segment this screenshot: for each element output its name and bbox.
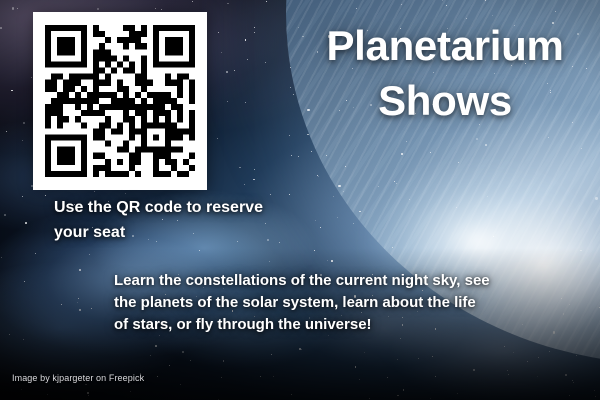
body-copy: Learn the constellations of the current … [114, 270, 506, 336]
qr-caption-line-1: Use the QR code to [54, 199, 202, 216]
poster-canvas: Planetarium Shows Use the QR code to res… [0, 0, 600, 400]
body-line-3: of stars, or fly through the universe! [114, 314, 506, 336]
qr-caption: Use the QR code to reserve your seat [54, 196, 264, 246]
qr-code-icon[interactable] [45, 25, 195, 177]
page-title: Planetarium Shows [300, 18, 590, 129]
planet-atmosphere-glow [330, 150, 600, 380]
title-line-2: Shows [300, 73, 590, 128]
title-line-1: Planetarium [326, 22, 563, 69]
image-credit: Image by kjpargeter on Freepick [12, 373, 144, 383]
body-line-2: the planets of the solar system, learn a… [114, 292, 506, 314]
body-line-1: Learn the constellations of the current … [114, 270, 506, 292]
qr-code-panel[interactable] [33, 12, 207, 190]
